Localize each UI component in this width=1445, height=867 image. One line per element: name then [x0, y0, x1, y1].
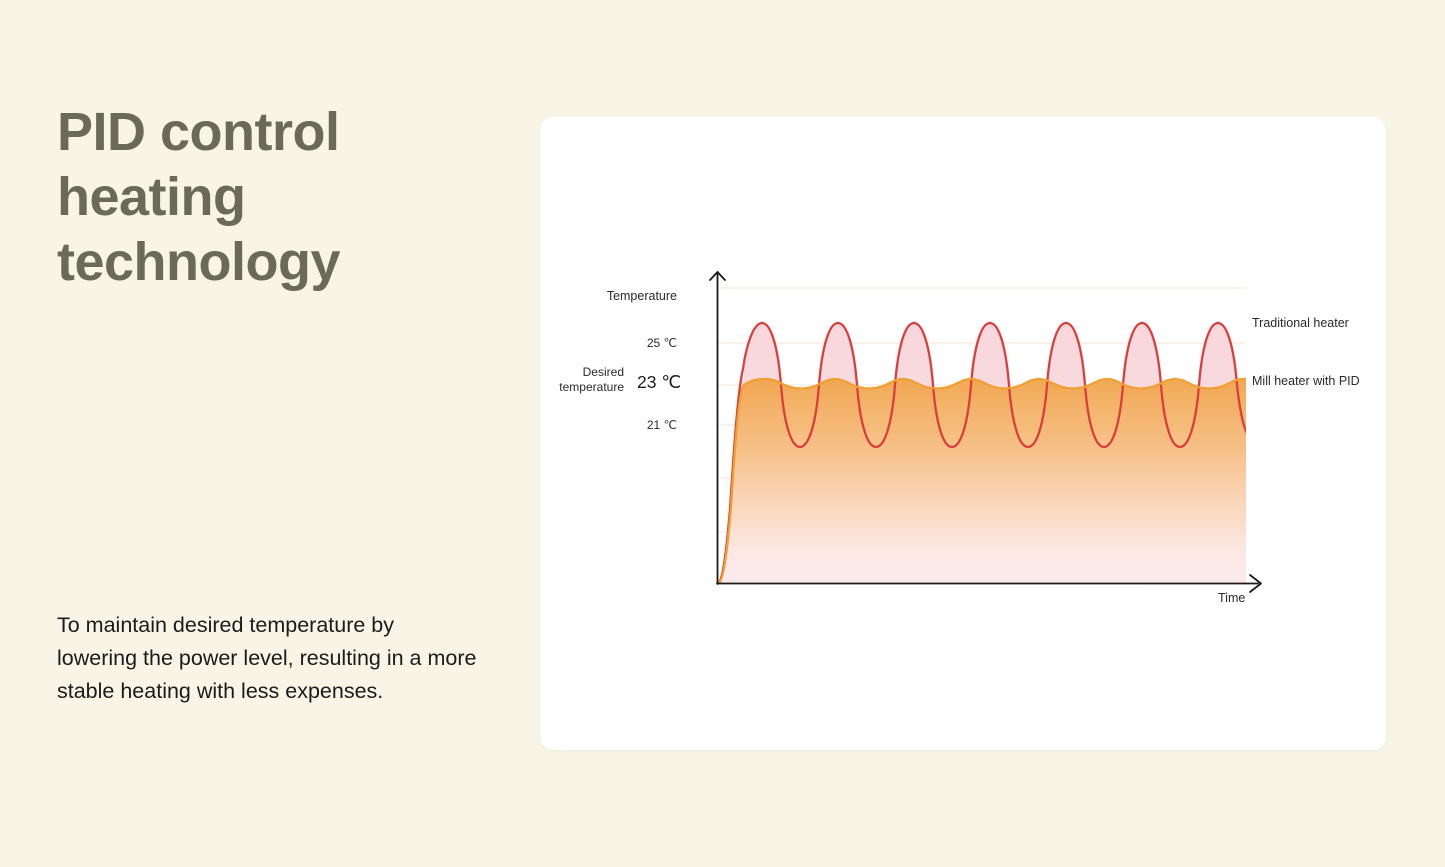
y-tick-label-25: 25 ℃ — [647, 336, 677, 350]
y-axis — [710, 272, 725, 584]
chart-plot-area — [540, 117, 1386, 750]
y-tick-label-23-desired: 23 ℃ — [637, 372, 681, 393]
y-tick-label-21: 21 ℃ — [647, 418, 677, 432]
legend-item-traditional-heater: Traditional heater — [1252, 316, 1349, 330]
legend-item-mill-heater-with-pid: Mill heater with PID — [1252, 374, 1360, 388]
desired-temperature-caption: Desired temperature — [559, 365, 624, 394]
x-axis-label: Time — [1218, 591, 1245, 605]
body-paragraph: To maintain desired temperature by lower… — [57, 609, 477, 708]
chart-card: Temperature 25 ℃ Desired temperature 23 … — [540, 117, 1386, 750]
temperature-comparison-chart: Temperature 25 ℃ Desired temperature 23 … — [540, 117, 1386, 750]
y-axis-label: Temperature — [607, 289, 677, 303]
page-title: PID control heating technology — [57, 100, 477, 295]
text-column: PID control heating technology To mainta… — [57, 0, 497, 867]
mill-heater-pid-area — [718, 379, 1248, 583]
